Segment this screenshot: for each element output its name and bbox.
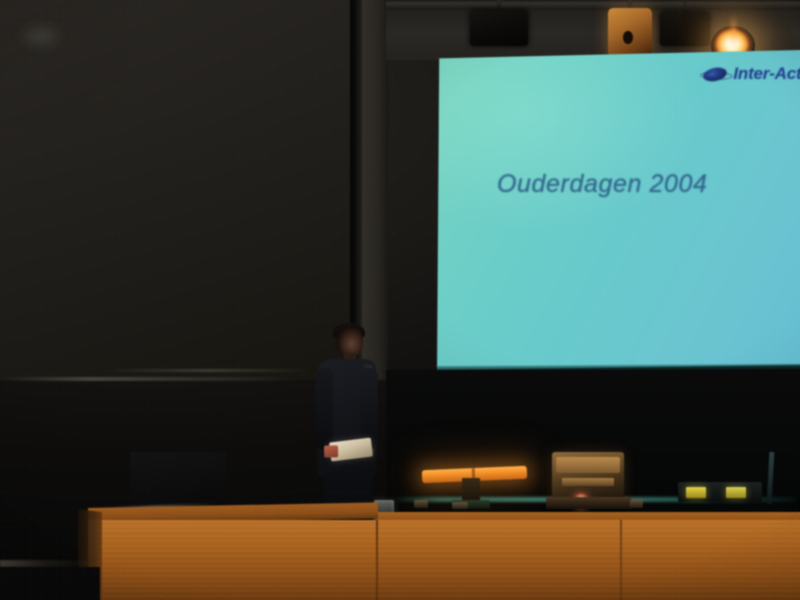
screen-vignette (437, 50, 800, 370)
indicator-led-left-icon (686, 487, 706, 498)
desk-panel-seam (376, 520, 378, 600)
lecture-desk-front (88, 520, 800, 600)
laptop-base (546, 497, 632, 509)
indicator-led-right-icon (726, 487, 746, 498)
desk-clutter-item (414, 500, 428, 508)
ellipse-logo-icon (702, 65, 728, 83)
ceiling-spotlight-warm-icon (608, 0, 652, 60)
presentation-screen: Inter-Acti Ouderdagen 2004 (437, 50, 800, 370)
desk-clutter-item (630, 499, 643, 508)
desk-panel-seam (620, 520, 622, 600)
presenter-left-arm (316, 368, 333, 450)
fixture-body (470, 10, 528, 46)
fixture-body (660, 12, 710, 46)
left-ledge-highlight (0, 377, 300, 381)
mid-ledge-highlight (100, 369, 315, 372)
ceiling-spotlight-dark-left-icon (470, 0, 528, 46)
presenter (318, 326, 380, 526)
slide-logo: Inter-Acti (703, 64, 800, 84)
left-wall-panel (0, 0, 352, 380)
lamp-flare (731, 14, 736, 48)
laptop-device (552, 452, 624, 498)
slide-logo-text: Inter-Acti (733, 64, 800, 84)
ceiling-track-rail (386, 2, 800, 10)
desk-foot-shadow (0, 567, 100, 600)
lecture-hall-photo: Inter-Acti Ouderdagen 2004 (0, 0, 800, 600)
fixture-body (608, 8, 652, 60)
wall-column-lit-edge (362, 0, 388, 380)
ceiling-spotlight-dark-right-icon (660, 2, 710, 46)
slide-title: Ouderdagen 2004 (497, 170, 708, 199)
desk-left-rail (0, 560, 96, 567)
desk-clutter-item (452, 502, 468, 509)
